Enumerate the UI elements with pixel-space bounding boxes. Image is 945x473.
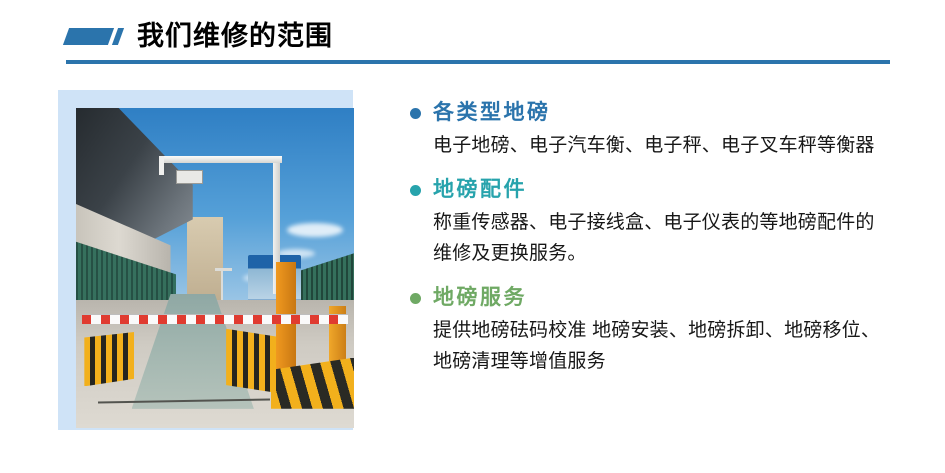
photo-distant-building xyxy=(187,217,223,303)
list-item-body: 各类型地磅 电子地磅、电子汽车衡、电子秤、电子叉车秤等衡器 xyxy=(433,98,910,161)
bullet-list: 各类型地磅 电子地磅、电子汽车衡、电子秤、电子叉车秤等衡器 地磅配件 称重传感器… xyxy=(410,98,910,377)
section-heading: 地磅服务 xyxy=(433,283,910,313)
page-title: 我们维修的范围 xyxy=(137,20,333,52)
truck-weighbridge-photo xyxy=(76,108,354,428)
photo-camera-gantry-drop xyxy=(159,156,163,175)
bullet-dot-icon xyxy=(410,185,421,196)
parallelogram-accent-icon xyxy=(66,28,121,45)
list-item-body: 地磅服务 提供地磅砝码校准 地磅安装、地磅拆卸、地磅移位、地磅清理等增值服务 xyxy=(433,283,910,377)
section-text: 提供地磅砝码校准 地磅安装、地磅拆卸、地磅移位、地磅清理等增值服务 xyxy=(433,315,888,377)
section-heading: 地磅配件 xyxy=(433,175,910,205)
title-row: 我们维修的范围 xyxy=(66,16,333,56)
bullet-dot-icon xyxy=(410,293,421,304)
header-divider xyxy=(66,60,890,64)
slide-header: 我们维修的范围 xyxy=(0,0,945,72)
accent-bar-large-icon xyxy=(63,28,114,45)
photo-guardrail-right xyxy=(226,329,276,393)
photo-camera-gantry-arm xyxy=(159,156,281,163)
bullet-dot-icon xyxy=(410,108,421,119)
list-item-body: 地磅配件 称重传感器、电子接线盒、电子仪表的等地磅配件的维修及更换服务。 xyxy=(433,175,910,269)
photo-lamp-arm xyxy=(215,268,232,271)
list-item: 地磅配件 称重传感器、电子接线盒、电子仪表的等地磅配件的维修及更换服务。 xyxy=(410,175,910,269)
accent-bar-small-icon xyxy=(112,28,124,45)
section-text: 电子地磅、电子汽车衡、电子秤、电子叉车秤等衡器 xyxy=(433,130,888,161)
photo-camera-icon xyxy=(176,170,203,184)
section-heading: 各类型地磅 xyxy=(433,98,910,128)
list-item: 各类型地磅 电子地磅、电子汽车衡、电子秤、电子叉车秤等衡器 xyxy=(410,98,910,161)
section-text: 称重传感器、电子接线盒、电子仪表的等地磅配件的维修及更换服务。 xyxy=(433,207,888,269)
photo-guardrail-left xyxy=(84,332,134,386)
photo-boom-barrier xyxy=(82,314,349,323)
list-item: 地磅服务 提供地磅砝码校准 地磅安装、地磅拆卸、地磅移位、地磅清理等增值服务 xyxy=(410,283,910,377)
